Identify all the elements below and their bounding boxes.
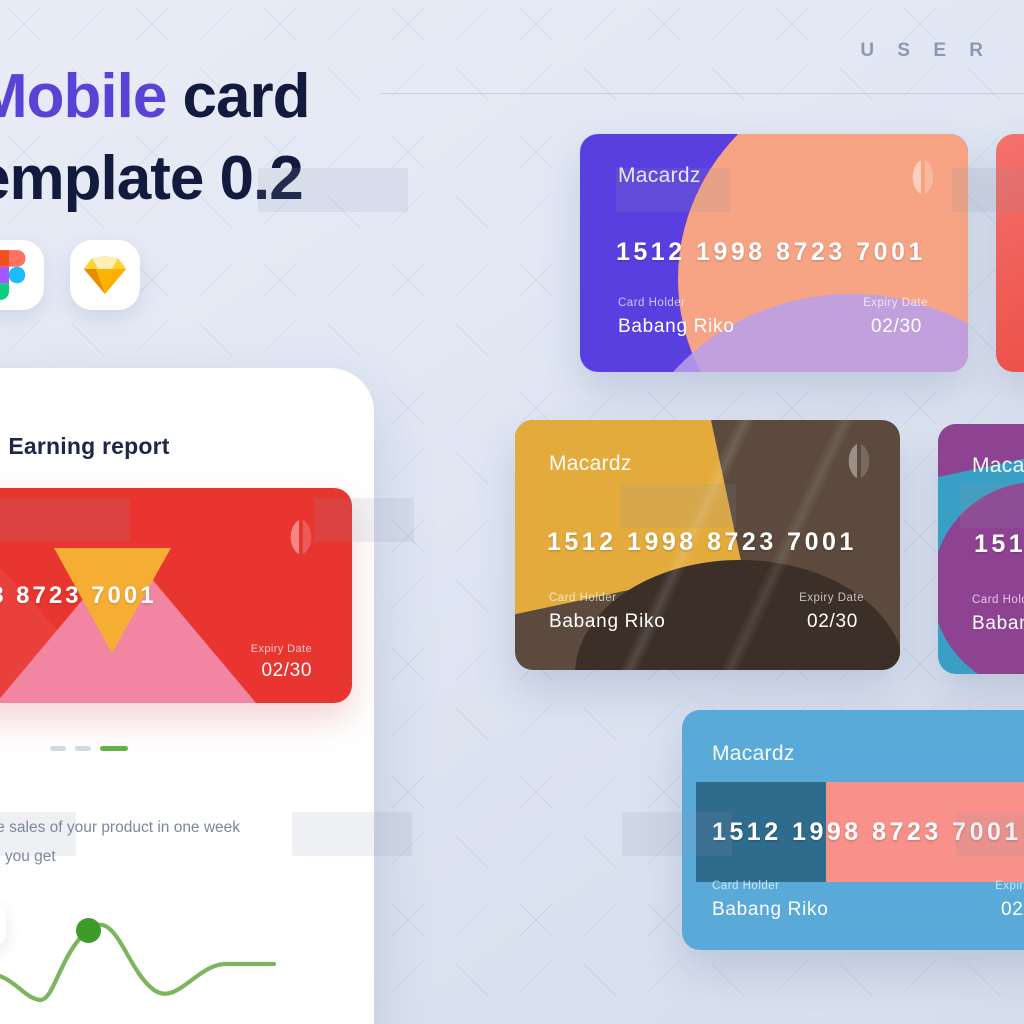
card-holder-value: Babang Riko (549, 611, 666, 633)
card-holder-value: Babang Riko (618, 316, 735, 338)
hero-line-1: Mobile card (0, 56, 310, 138)
figma-icon[interactable] (0, 240, 44, 310)
card-expiry-value: 02/30 (261, 660, 312, 682)
phone-screen: Earning report Macardz 1512 1998 8723 70… (0, 368, 374, 1024)
card-holder-label: Card Holder (618, 297, 686, 309)
credit-card-red-partial[interactable] (996, 134, 1024, 372)
credit-card-teal-partial[interactable]: Macardz 1512 Card Holder Babang (938, 424, 1024, 674)
card-expiry-label: Expiry Date (863, 297, 928, 309)
card-holder-value: Babang (972, 613, 1024, 635)
card-number: 1512 1998 8723 7001 (712, 818, 1022, 847)
card-holder-value: Babang Riko (712, 899, 829, 921)
figma-icon-glyph (0, 250, 26, 300)
pagination-dot-active[interactable] (100, 746, 128, 751)
card-expiry-value: 02/30 (1001, 899, 1024, 921)
card-expiry-label: Expiry Date (799, 592, 864, 604)
sketch-icon-glyph (83, 254, 127, 296)
credit-card-brown[interactable]: Macardz 1512 1998 8723 7001 Card Holder … (515, 420, 900, 670)
card-number: 1512 1998 8723 7001 (547, 528, 857, 557)
card-expiry-value: 02/30 (871, 316, 922, 338)
card-expiry-label: Expiry Date (995, 880, 1024, 892)
credit-card-purple[interactable]: Macardz 1512 1998 8723 7001 Card Holder … (580, 134, 968, 372)
hero-heading: Mobile card emplate 0.2 (0, 56, 310, 220)
hero-line-1-rest: card (166, 62, 309, 131)
user-label: U S E R (860, 40, 992, 62)
credit-card-blue[interactable]: Macardz 1512 1998 8723 7001 Card Holder … (682, 710, 1024, 950)
card-brand: Macardz (972, 454, 1024, 478)
bowtie-logo-icon (842, 442, 876, 480)
chart-line-path (0, 880, 374, 1024)
card-number: 1512 1998 8723 7001 (616, 238, 926, 267)
card-brand: Macardz (618, 164, 701, 188)
page-title: Earning report (8, 433, 169, 460)
sales-report-description: This is a summary of the sales of your p… (0, 813, 306, 871)
card-accent-shape-purple-circle (938, 482, 1024, 674)
bowtie-logo-icon (284, 518, 318, 556)
card-holder-label: Card Holder (549, 592, 617, 604)
hero-accent-word: Mobile (0, 62, 166, 131)
card-brand: Macardz (712, 742, 795, 766)
sales-line-chart: $800+ $500 $100 $521,23 (0, 880, 374, 1024)
sales-report-section: Sales report This is a summary of the sa… (0, 773, 374, 871)
pagination-dots[interactable] (50, 746, 128, 751)
card-number: 1512 1998 8723 7001 (0, 582, 157, 610)
app-icon-row (0, 240, 140, 310)
bowtie-logo-icon (906, 158, 940, 196)
chart-data-point-marker[interactable] (76, 918, 101, 943)
pagination-dot[interactable] (75, 746, 91, 751)
card-expiry-label: Expiry Date (251, 643, 312, 655)
sales-report-title: Sales report (0, 773, 342, 797)
card-holder-label: Card Holder (972, 594, 1024, 606)
card-number: 1512 (974, 530, 1024, 559)
hero-line-2: emplate 0.2 (0, 138, 310, 220)
earning-report-card[interactable]: Macardz 1512 1998 8723 7001 Card Holder … (0, 488, 352, 703)
phone-navbar: Earning report (0, 426, 374, 466)
card-expiry-value: 02/30 (807, 611, 858, 633)
header-divider-line (380, 93, 1024, 94)
card-holder-label: Card Holder (712, 880, 780, 892)
card-brand: Macardz (549, 452, 632, 476)
phone-mockup: Earning report Macardz 1512 1998 8723 70… (0, 368, 374, 1024)
pagination-dot[interactable] (50, 746, 66, 751)
sketch-icon[interactable] (70, 240, 140, 310)
